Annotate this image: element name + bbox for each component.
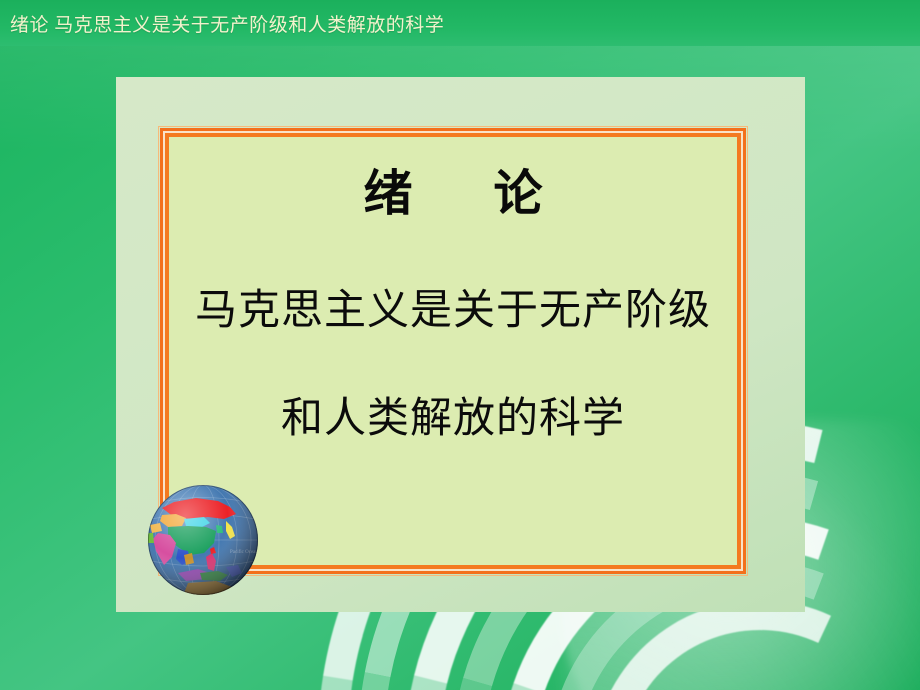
slide-subtitle-line-2: 和人类解放的科学 — [169, 395, 737, 443]
presentation-slide: 绪论 马克思主义是关于无产阶级和人类解放的科学 绪 论 马克思主义是关于无产阶级… — [0, 0, 920, 690]
globe-icon: Pacific Ocean — [144, 481, 262, 599]
slide-subtitle-line-1: 马克思主义是关于无产阶级 — [169, 287, 737, 335]
slide-header-bar: 绪论 马克思主义是关于无产阶级和人类解放的科学 — [0, 0, 920, 46]
content-inner-panel: 绪 论 马克思主义是关于无产阶级 和人类解放的科学 — [169, 137, 737, 565]
slide-title: 绪 论 — [169, 167, 737, 221]
decorative-orange-frame: 绪 论 马克思主义是关于无产阶级 和人类解放的科学 — [158, 126, 748, 576]
header-title: 绪论 马克思主义是关于无产阶级和人类解放的科学 — [0, 10, 444, 37]
